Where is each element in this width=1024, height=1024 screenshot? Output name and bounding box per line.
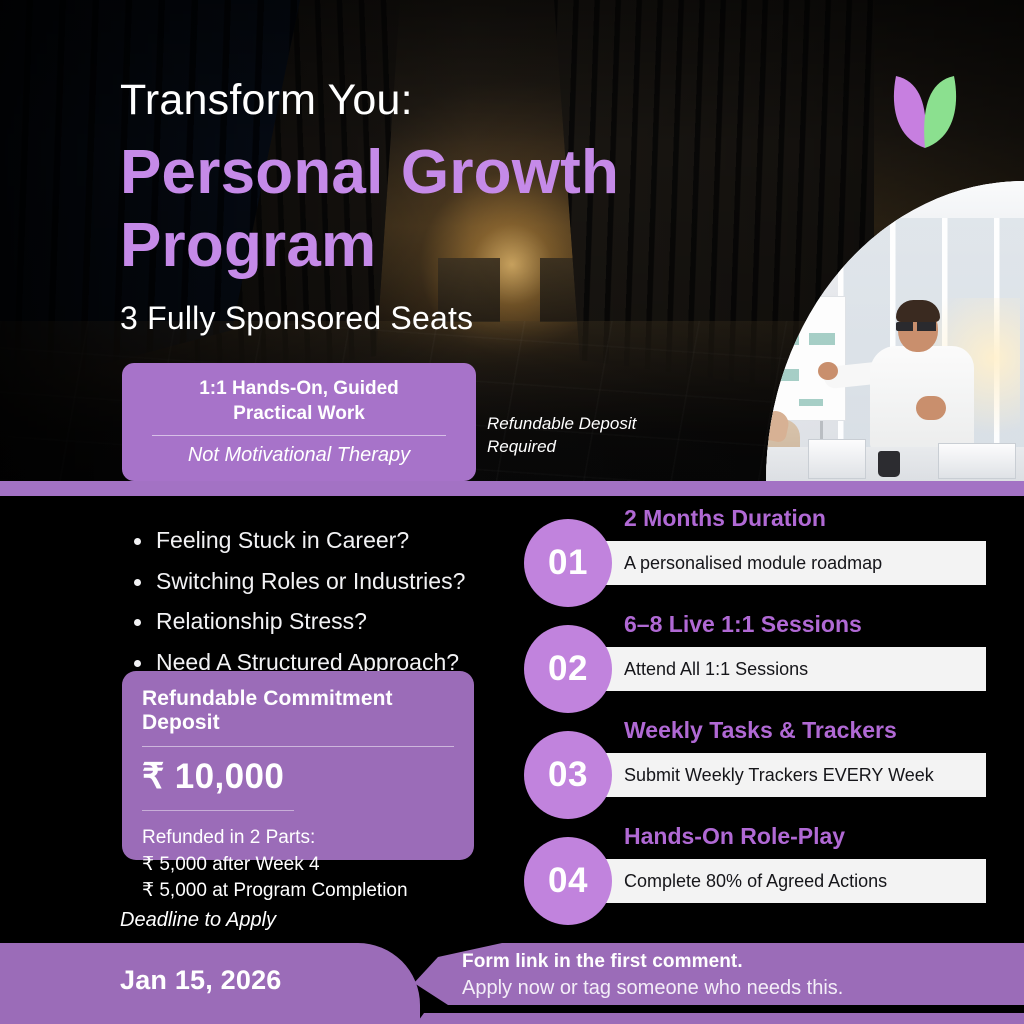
deadline-date: Jan 15, 2026: [120, 965, 282, 996]
step-detail-bar: Complete 80% of Agreed Actions: [586, 859, 986, 903]
list-item: Switching Roles or Industries?: [130, 568, 465, 595]
hero-deposit-note: Refundable Deposit Required: [487, 412, 667, 458]
step-title: Weekly Tasks & Trackers: [624, 717, 897, 744]
deposit-card-divider-top: [142, 746, 454, 747]
footer-cta-subline: Apply now or tag someone who needs this.: [462, 977, 843, 1000]
deposit-card: Refundable Commitment Deposit ₹ 10,000 R…: [122, 671, 474, 860]
hero-badge-subtext: Not Motivational Therapy: [138, 444, 460, 467]
step-number-badge: 03: [524, 731, 612, 819]
step-item: 6–8 Live 1:1 Sessions Attend All 1:1 Ses…: [524, 611, 986, 717]
deposit-card-amount: ₹ 10,000: [142, 757, 454, 797]
hero-subtitle: 3 Fully Sponsored Seats: [120, 300, 473, 337]
section-divider-band: [0, 481, 1024, 496]
hero-badge: 1:1 Hands-On, Guided Practical Work Not …: [122, 363, 476, 481]
page-title-line-2: Program: [120, 209, 619, 282]
hero-eyebrow: Transform You:: [120, 76, 413, 125]
leaf-right-icon: [924, 76, 956, 148]
list-item: Feeling Stuck in Career?: [130, 527, 465, 554]
step-detail-bar: Submit Weekly Trackers EVERY Week: [586, 753, 986, 797]
poster-canvas: Transform You: Personal Growth Program 3…: [0, 0, 1024, 1024]
step-title: 2 Months Duration: [624, 505, 826, 532]
list-item: Relationship Stress?: [130, 608, 465, 635]
footer-cta-headline: Form link in the first comment.: [462, 951, 743, 973]
step-detail: Complete 80% of Agreed Actions: [624, 871, 887, 892]
step-detail: A personalised module roadmap: [624, 553, 882, 574]
hero-section: Transform You: Personal Growth Program 3…: [0, 0, 1024, 481]
page-title-line-1: Personal Growth: [120, 136, 619, 209]
hero-badge-divider: [152, 435, 446, 436]
step-detail-bar: Attend All 1:1 Sessions: [586, 647, 986, 691]
step-title: Hands-On Role-Play: [624, 823, 845, 850]
hero-badge-line-2: Practical Work: [138, 401, 460, 426]
deposit-card-title: Refundable Commitment Deposit: [142, 687, 454, 735]
brand-logo: [880, 62, 970, 150]
step-detail-bar: A personalised module roadmap: [586, 541, 986, 585]
deposit-card-divider-bottom: [142, 810, 294, 811]
step-detail: Submit Weekly Trackers EVERY Week: [624, 765, 934, 786]
step-number-badge: 02: [524, 625, 612, 713]
step-detail: Attend All 1:1 Sessions: [624, 659, 808, 680]
step-item: Hands-On Role-Play Complete 80% of Agree…: [524, 823, 986, 929]
deposit-refund-line-3: ₹ 5,000 at Program Completion: [142, 878, 454, 905]
step-item: Weekly Tasks & Trackers Submit Weekly Tr…: [524, 717, 986, 823]
deposit-refund-line-2: ₹ 5,000 after Week 4: [142, 852, 454, 879]
pain-point-list: Feeling Stuck in Career? Switching Roles…: [130, 527, 465, 689]
deadline-label: Deadline to Apply: [120, 909, 276, 932]
page-title: Personal Growth Program: [120, 136, 619, 282]
leaf-left-icon: [894, 76, 926, 148]
step-number-badge: 01: [524, 519, 612, 607]
step-item: 2 Months Duration A personalised module …: [524, 505, 986, 611]
step-number-badge: 04: [524, 837, 612, 925]
footer-bottom-strip: [404, 1013, 1024, 1024]
hero-badge-line-1: 1:1 Hands-On, Guided: [138, 376, 460, 401]
program-steps-list: 2 Months Duration A personalised module …: [524, 505, 986, 929]
step-title: 6–8 Live 1:1 Sessions: [624, 611, 862, 638]
deposit-refund-line-1: Refunded in 2 Parts:: [142, 825, 454, 852]
